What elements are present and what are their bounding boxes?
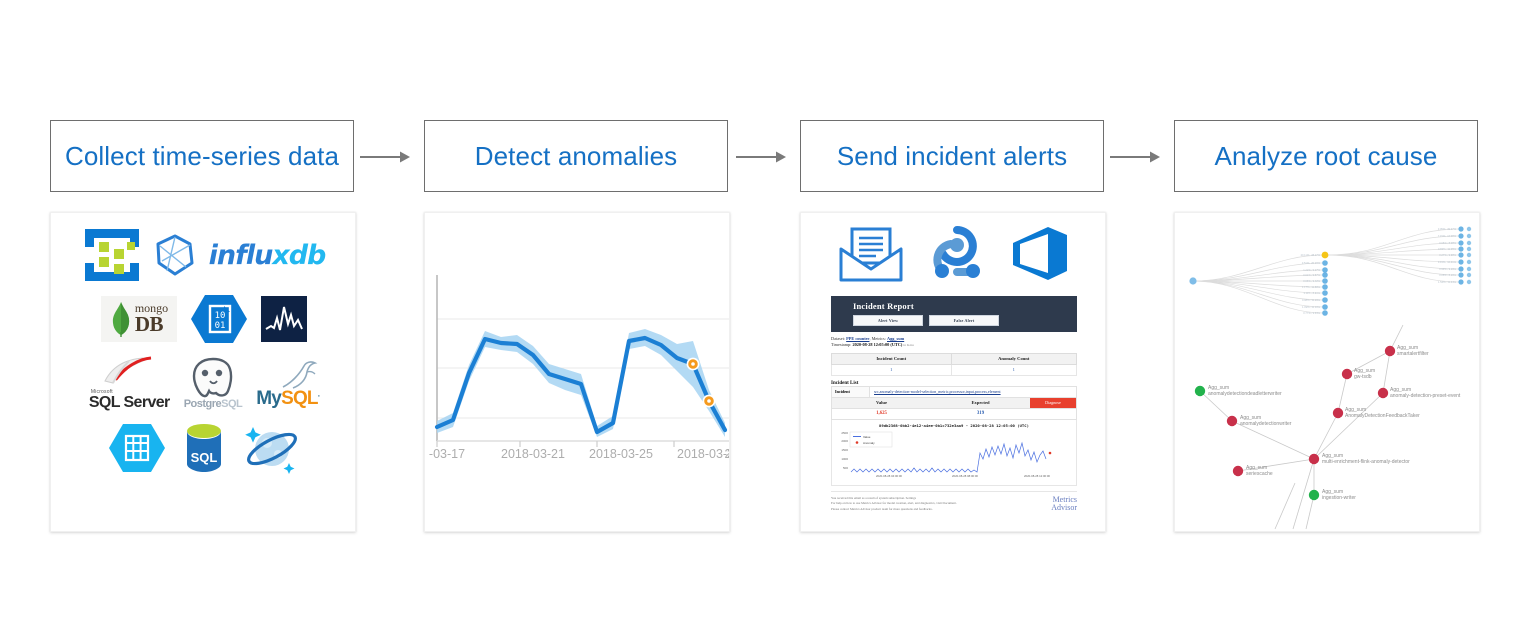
svg-text:seriescache: seriescache	[1246, 471, 1273, 477]
root-cause-graph: 3.05%↓ 39.27% 7.15%↓ 14.08% 0.65%↓ 8.08%…	[1175, 213, 1479, 531]
detail-value-row: 1,625 319	[831, 409, 1077, 420]
metrics-label: , Metrics:	[869, 336, 885, 341]
azure-table-storage-icon	[108, 422, 166, 474]
x-tick-label: -03-17	[429, 447, 465, 461]
postgresql-wordmark: PostgreSQL	[184, 399, 243, 410]
azure-cosmos-db-icon	[242, 421, 300, 475]
svg-text:anomalydetectionwriter: anomalydetectionwriter	[1240, 421, 1292, 427]
graph-node-red	[1227, 416, 1237, 426]
azure-blob-storage-icon: 10 01	[191, 293, 247, 345]
svg-text:0.08%↓ 8.16%: 0.08%↓ 8.16%	[1439, 273, 1456, 277]
highlighted-node	[1322, 252, 1329, 259]
arrow-right-icon-2	[736, 150, 786, 164]
incident-meta: Dataset: PPE counter, Metrics: Agg_sum T…	[831, 336, 1077, 349]
mongodb-wordmark: mongo DB	[135, 303, 168, 334]
anomaly-point-1	[687, 358, 698, 369]
svg-text:0.66%↓ 9.42%: 0.66%↓ 9.42%	[1303, 279, 1320, 283]
x-tick-label: 2018-03-25	[589, 447, 653, 461]
graph-node-green	[1195, 386, 1205, 396]
graph-node-red	[1233, 466, 1243, 476]
influxdb-icon	[155, 233, 195, 277]
card-root-cause-graph: 3.05%↓ 39.27% 7.15%↓ 14.08% 0.65%↓ 8.08%…	[1174, 212, 1480, 532]
diagnose-button[interactable]: Diagnose	[1030, 398, 1076, 408]
anomaly-chart: -03-17 2018-03-21 2018-03-25 2018-03-29 …	[425, 213, 729, 531]
arrow-right-icon-1	[360, 150, 410, 164]
mongodb-icon: mongo DB	[101, 296, 177, 342]
step-header-root-cause[interactable]: Analyze root cause	[1174, 120, 1478, 192]
incident-report-title: Incident Report	[853, 301, 1077, 311]
footer-line-2: For help on how to use Metrics Advisor f…	[831, 501, 957, 506]
svg-text:3.51%↓ 20.19%: 3.51%↓ 20.19%	[1302, 261, 1321, 265]
diagram-canvas: Collect time-series data	[0, 0, 1530, 644]
footer-fineprint: You received this email as a result of s…	[831, 496, 957, 512]
azure-data-explorer-icon: Azure Data Explorer	[83, 227, 141, 283]
metrics-advisor-brand: Metrics Advisor	[1051, 496, 1077, 513]
svg-text:multi-enrichment-flink-anomaly: multi-enrichment-flink-anomaly-detector	[1322, 459, 1410, 465]
svg-text:anomaly-detection-preset-event: anomaly-detection-preset-event	[1390, 393, 1461, 399]
step-collect: Collect time-series data	[50, 0, 356, 644]
mysql-icon: MySQL.	[256, 359, 319, 408]
svg-text:20.11%↓ 28.17%: 20.11%↓ 28.17%	[1301, 253, 1321, 257]
table-row: 1 1	[832, 364, 1077, 375]
azure-sql-database-icon: SQL	[180, 422, 228, 474]
sql-server-icon: Microsoft SQL Server	[89, 355, 170, 411]
logo-row-3: Microsoft SQL Server PostgreSQL	[63, 355, 345, 411]
svg-text:anomalydetectiondeadletterwrit: anomalydetectiondeadletterwriter	[1208, 391, 1282, 397]
timestamp-label: Timestamp:	[831, 342, 851, 347]
alert-view-button[interactable]: Alert View	[853, 315, 923, 326]
card-incident-mail: Incident Report Alert View False Alert D…	[800, 212, 1106, 532]
dataset-label: Dataset:	[831, 336, 845, 341]
mysql-wordmark: MySQL.	[256, 389, 319, 408]
x-tick-label: 2018-03-29	[677, 447, 730, 461]
svg-text:1500: 1500	[841, 448, 848, 452]
graph-node-red	[1385, 346, 1395, 356]
incident-row: Incident src,anomaly-detection-model-sel…	[831, 386, 1077, 397]
spacer	[1030, 409, 1076, 419]
logo-row-2: mongo DB 10 01	[63, 293, 345, 345]
detail-header-row: Value Expected Diagnose	[831, 397, 1077, 409]
azure-devops-icon	[1010, 225, 1070, 288]
svg-text:2020-08-28 12:00:00: 2020-08-28 12:00:00	[1024, 474, 1050, 478]
svg-text:smartalertfilter: smartalertfilter	[1397, 351, 1429, 357]
mini-chart-anomaly-point	[1049, 452, 1052, 455]
svg-text:7.15%↓ 14.08%: 7.15%↓ 14.08%	[1438, 234, 1457, 238]
step-label: Detect anomalies	[475, 143, 677, 169]
arrow-right-icon-3	[1110, 150, 1160, 164]
incident-report-actions: Alert View False Alert	[853, 315, 1077, 326]
step-alert: Send incident alerts	[800, 0, 1106, 644]
svg-text:1.54%↓ 11.04%: 1.54%↓ 11.04%	[1438, 280, 1457, 284]
incident-mail: Incident Report Alert View False Alert D…	[801, 213, 1106, 532]
incident-key: Incident	[832, 387, 870, 397]
card-anomaly-chart: -03-17 2018-03-21 2018-03-25 2018-03-29 …	[424, 212, 730, 532]
step-root-cause: Analyze root cause	[1174, 0, 1480, 644]
svg-text:1.22%↓ 9.17%: 1.22%↓ 9.17%	[1303, 268, 1320, 272]
svg-text:0.77%↓ 9.63%: 0.77%↓ 9.63%	[1303, 311, 1320, 315]
svg-text:1.09%↓ 11.10%: 1.09%↓ 11.10%	[1302, 305, 1321, 309]
sql-server-wordmark: SQL Server	[89, 395, 170, 411]
azure-sql-glyph: SQL	[191, 450, 218, 465]
step-header-detect[interactable]: Detect anomalies	[424, 120, 728, 192]
graph-node-red	[1333, 408, 1343, 418]
metrics-link[interactable]: Agg_sum	[887, 336, 904, 341]
step-label: Analyze root cause	[1215, 143, 1438, 169]
webhook-icon	[926, 225, 988, 288]
expected-cell: 319	[931, 409, 1030, 419]
svg-text:Anomaly: Anomaly	[863, 441, 875, 445]
datasource-logo-grid: Azure Data Explorer influxdb	[63, 227, 345, 485]
logo-row-4: SQL	[63, 421, 345, 475]
svg-text:10: 10	[215, 311, 226, 321]
value-cell: 1,625	[832, 409, 931, 419]
svg-text:2020-08-28 04:00:00: 2020-08-28 04:00:00	[876, 474, 902, 478]
col-incident-count: Incident Count	[832, 353, 952, 364]
footer-line-3: Please contact Metrics Advisor product t…	[831, 507, 957, 512]
svg-text:AnomalyDetectionFeedbackTaker: AnomalyDetectionFeedbackTaker	[1345, 413, 1420, 419]
mini-chart: Value Anomaly 2500 2000 1500 1000 500	[834, 429, 1060, 479]
svg-text:01: 01	[215, 321, 226, 331]
svg-text:0.83%↓ 11.05%: 0.83%↓ 11.05%	[1438, 247, 1457, 251]
application-insights-icon	[261, 296, 307, 342]
incident-report-header: Incident Report Alert View False Alert	[831, 296, 1077, 332]
email-open-icon	[838, 225, 904, 288]
anomaly-count-value: 1	[951, 364, 1076, 375]
svg-text:500: 500	[843, 466, 848, 470]
col-expected: Expected	[931, 398, 1030, 408]
mini-chart-title: 89db2368-0bb2-4e12-a4ee-0b1c732e3aa9 - 2…	[834, 423, 1074, 428]
card-datasources: Azure Data Explorer influxdb	[50, 212, 356, 532]
timestamp-note: in hi-hu	[903, 343, 913, 347]
svg-text:gw-tsdb: gw-tsdb	[1354, 374, 1372, 380]
table-header-row: Incident Count Anomaly Count	[832, 353, 1077, 364]
timestamp-value: 2020-08-28 12:05:00 (UTC)	[852, 342, 902, 347]
step-header-collect[interactable]: Collect time-series data	[50, 120, 354, 192]
svg-text:1000: 1000	[841, 457, 848, 461]
svg-text:0.61%↓ 9.57%: 0.61%↓ 9.57%	[1303, 273, 1320, 277]
graph-node-green	[1309, 490, 1319, 500]
svg-text:0.98%↓ 11.19%: 0.98%↓ 11.19%	[1302, 298, 1321, 302]
mini-chart-panel: 89db2368-0bb2-4e12-a4ee-0b1c732e3aa9 - 2…	[831, 420, 1077, 486]
influxdb-wordmark: influxdb	[209, 242, 326, 269]
svg-text:2000: 2000	[841, 439, 848, 443]
graph-node-red	[1342, 369, 1352, 379]
summary-table: Incident Count Anomaly Count 1 1	[831, 353, 1077, 376]
mail-body: Incident Report Alert View False Alert D…	[831, 296, 1077, 513]
dataset-link[interactable]: PPE counter	[846, 336, 869, 341]
step-detect: Detect anomalies	[424, 0, 730, 644]
col-anomaly-count: Anomaly Count	[951, 353, 1076, 364]
channel-icons	[801, 213, 1106, 288]
graph-node-red	[1378, 388, 1388, 398]
fan-root-node	[1189, 277, 1196, 284]
svg-text:ingestion-writer: ingestion-writer	[1322, 495, 1356, 501]
svg-text:0.27%↓ 9.98%: 0.27%↓ 9.98%	[1439, 253, 1456, 257]
postgresql-icon: PostgreSQL	[184, 357, 243, 410]
svg-text:1.17%↓ 11.88%: 1.17%↓ 11.88%	[1302, 285, 1321, 289]
incident-count-value: 1	[832, 364, 952, 375]
mail-footer: You received this email as a result of s…	[831, 491, 1077, 513]
logo-row-1: Azure Data Explorer influxdb	[63, 227, 345, 283]
graph-node-red	[1309, 454, 1319, 464]
svg-text:2020-08-28 08:00:00: 2020-08-28 08:00:00	[952, 474, 978, 478]
col-value: Value	[832, 398, 931, 408]
svg-text:Value: Value	[863, 435, 871, 439]
step-header-alert[interactable]: Send incident alerts	[800, 120, 1104, 192]
step-label: Send incident alerts	[837, 143, 1067, 169]
x-tick-label: 2	[725, 447, 730, 461]
svg-text:0.19%↓ 10.01%: 0.19%↓ 10.01%	[1438, 260, 1457, 264]
svg-text:3.05%↓ 39.27%: 3.05%↓ 39.27%	[1438, 227, 1457, 231]
incident-value-link[interactable]: src,anomaly-detection-model-selection_me…	[870, 389, 1001, 394]
svg-text:2500: 2500	[841, 431, 848, 435]
anomaly-point-2	[703, 395, 714, 406]
brand-line-2: Advisor	[1051, 504, 1077, 512]
x-tick-label: 2018-03-21	[501, 447, 565, 461]
svg-text:0.99%↓ 9.19%: 0.99%↓ 9.19%	[1439, 267, 1456, 271]
svg-text:3.11%↓ 8.91%: 3.11%↓ 8.91%	[1303, 291, 1320, 295]
svg-text:0.65%↓ 8.08%: 0.65%↓ 8.08%	[1439, 241, 1456, 245]
step-label: Collect time-series data	[65, 143, 339, 169]
false-alert-button[interactable]: False Alert	[929, 315, 999, 326]
